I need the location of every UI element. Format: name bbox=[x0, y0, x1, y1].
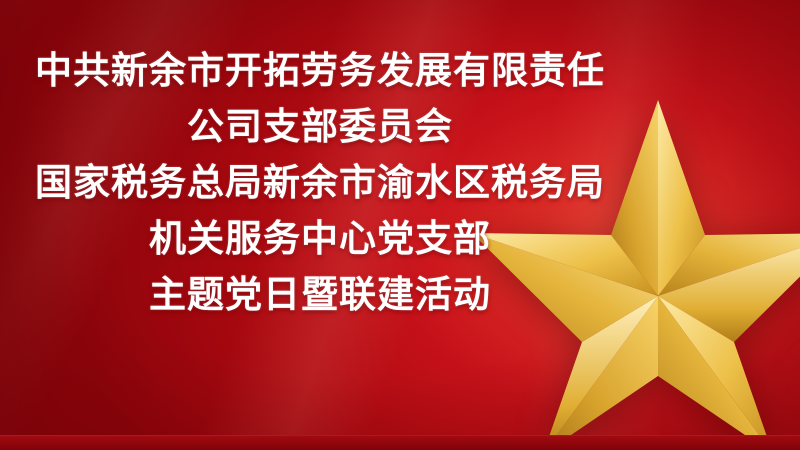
title-line-4: 机关服务中心党支部 bbox=[0, 212, 640, 268]
title-line-2: 公司支部委员会 bbox=[0, 100, 640, 156]
title-line-3: 国家税务总局新余市渝水区税务局 bbox=[0, 156, 640, 212]
bottom-bar bbox=[0, 435, 800, 450]
banner-title: 中共新余市开拓劳务发展有限责任 公司支部委员会 国家税务总局新余市渝水区税务局 … bbox=[0, 44, 640, 324]
banner-image: 中共新余市开拓劳务发展有限责任 公司支部委员会 国家税务总局新余市渝水区税务局 … bbox=[0, 0, 800, 450]
title-line-1: 中共新余市开拓劳务发展有限责任 bbox=[0, 44, 640, 100]
title-line-5: 主题党日暨联建活动 bbox=[0, 268, 640, 324]
